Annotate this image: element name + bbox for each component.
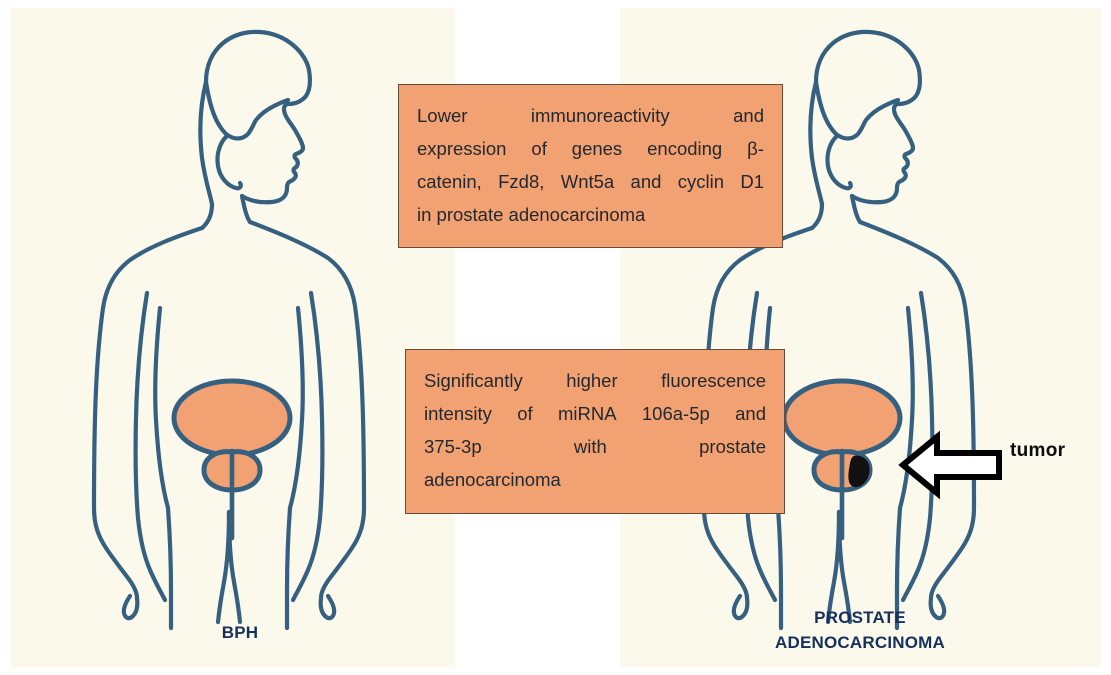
- callout-2-line-1: Significantly higher fluorescence: [424, 364, 766, 397]
- callout-1-line-3: catenin, Fzd8, Wnt5a and cyclin D1: [417, 165, 764, 198]
- callout-2-line-3: 375-3p with prostate: [424, 430, 766, 463]
- callout-1-line-4: in prostate adenocarcinoma: [417, 198, 764, 231]
- callout-gene-expression: Lower immunoreactivity and expression of…: [398, 84, 783, 248]
- callout-mirna-fluorescence: Significantly higher fluorescence intens…: [405, 349, 785, 514]
- panel-bph: [10, 8, 455, 667]
- callout-2-line-4: adenocarcinoma: [424, 463, 766, 496]
- tumor-icon: [849, 456, 869, 487]
- caption-line-2: ADENOCARCINOMA: [700, 630, 1020, 655]
- figure-canvas: BPH: [0, 0, 1111, 675]
- male-body-outline-bph: [10, 8, 455, 667]
- bladder-right: [784, 381, 900, 455]
- caption-line-1: PROSTATE: [700, 605, 1020, 630]
- bladder-left: [174, 381, 290, 455]
- tumor-label: tumor: [1010, 440, 1065, 462]
- left-block-arrow-icon: [895, 425, 1010, 500]
- prostate-left: [204, 452, 260, 490]
- prostate-right: [814, 452, 870, 490]
- callout-1-line-1: Lower immunoreactivity and: [417, 99, 764, 132]
- callout-1-line-2: expression of genes encoding β-: [417, 132, 764, 165]
- caption-bph: BPH: [140, 620, 340, 645]
- caption-adenocarcinoma: PROSTATE ADENOCARCINOMA: [700, 605, 1020, 655]
- callout-2-line-2: intensity of miRNA 106a-5p and: [424, 397, 766, 430]
